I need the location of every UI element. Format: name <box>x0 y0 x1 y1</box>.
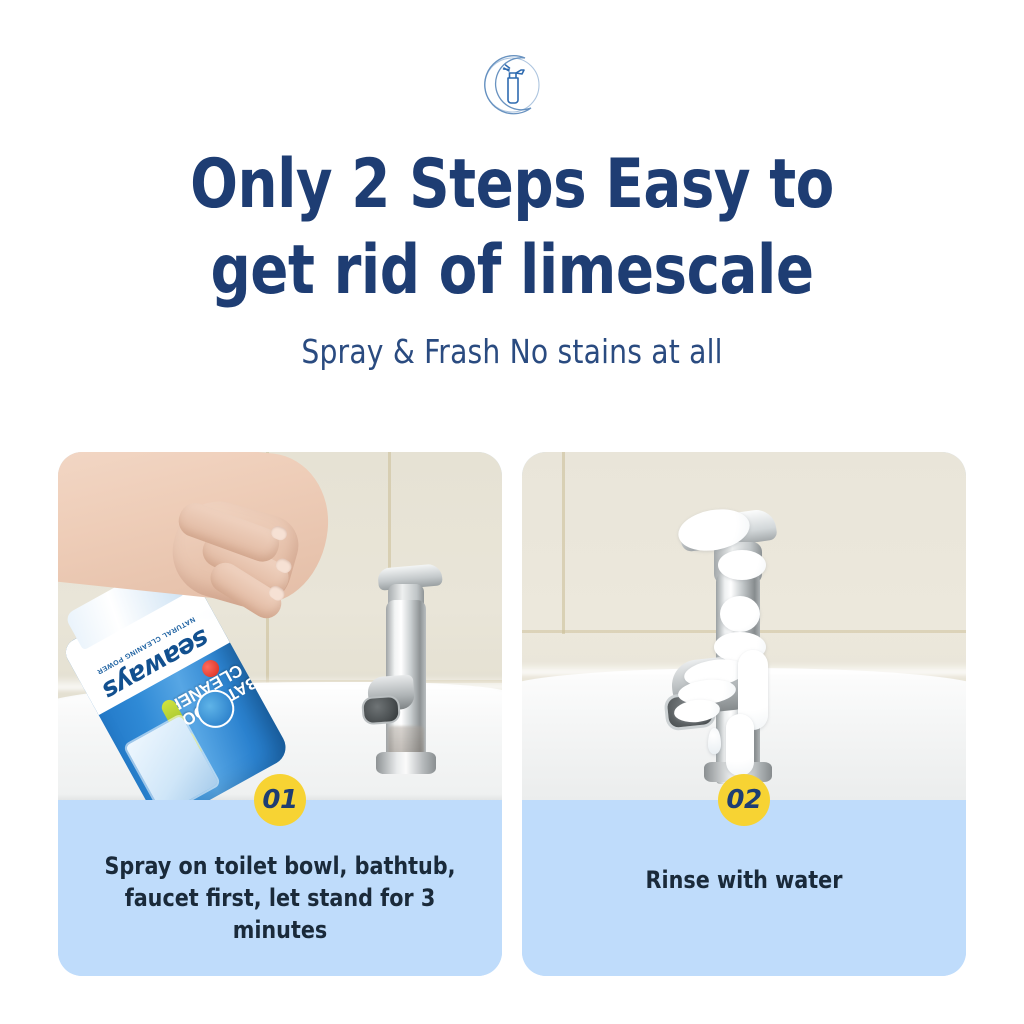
step-1-caption-line-1: Spray on toilet bowl, bathtub, <box>104 852 455 880</box>
infographic-page: Only 2 Steps Easy to get rid of limescal… <box>0 0 1024 1024</box>
steps-container: NATURAL CLEANING POWER seaways BATHROOM … <box>58 452 966 976</box>
step-2-photo <box>522 452 966 800</box>
bottle-photo-graphic <box>125 715 219 800</box>
step-card-2: 02 Rinse with water <box>522 452 966 976</box>
step-2-caption: Rinse with water <box>552 864 936 896</box>
step-1-caption: Spray on toilet bowl, bathtub, faucet fi… <box>88 850 472 946</box>
faucet-base <box>376 752 436 774</box>
sink-faucet <box>358 548 450 780</box>
foam-blob <box>720 596 760 632</box>
spray-bottle-icon <box>0 48 1024 122</box>
foam-blob <box>718 550 766 580</box>
subtitle: Spray & Frash No stains at all <box>26 332 999 371</box>
foam-drip <box>708 728 721 754</box>
headline-line-2: get rid of limescale <box>96 228 928 314</box>
step-card-1: NATURAL CLEANING POWER seaways BATHROOM … <box>58 452 502 976</box>
headline-line-1: Only 2 Steps Easy to <box>190 145 834 224</box>
page-title: Only 2 Steps Easy to get rid of limescal… <box>96 142 928 313</box>
step-2-badge: 02 <box>718 774 770 826</box>
faucet-aerator <box>363 697 399 723</box>
step-1-badge: 01 <box>254 774 306 826</box>
hand <box>58 452 335 609</box>
step-1-caption-line-2: faucet first, let stand for 3 minutes <box>125 884 436 944</box>
step-1-photo: NATURAL CLEANING POWER seaways BATHROOM … <box>58 452 502 800</box>
foam-streak <box>726 714 754 776</box>
tile-grout-line <box>562 452 565 634</box>
foamy-faucet <box>664 500 804 790</box>
